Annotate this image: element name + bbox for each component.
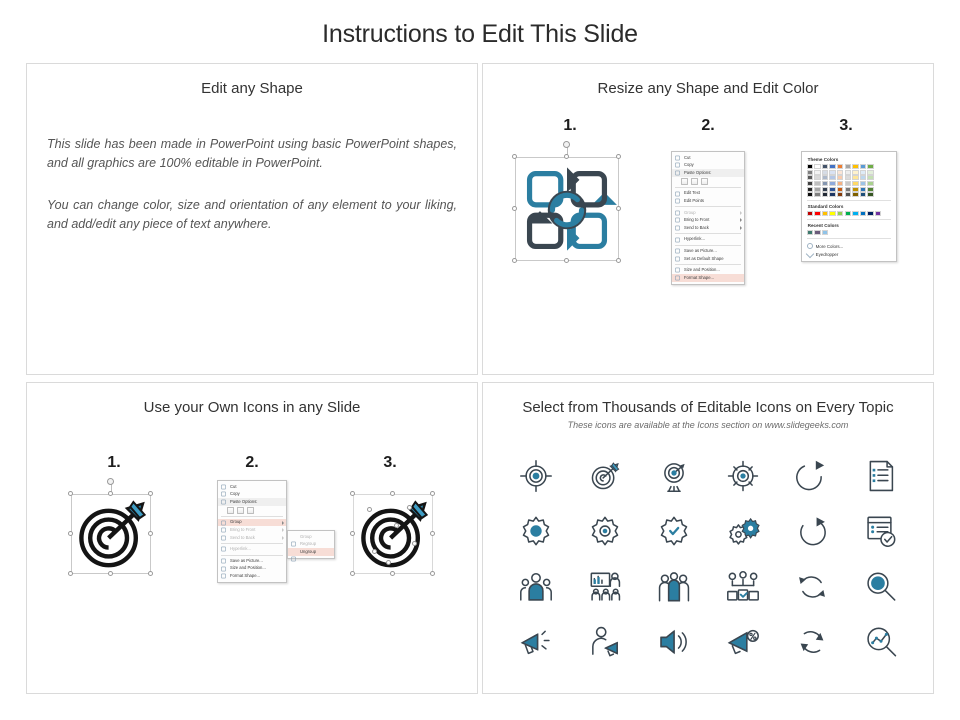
rotation-handle-icon[interactable] <box>563 141 570 148</box>
send-back-icon <box>220 535 227 541</box>
own-step-number-3: 3. <box>330 454 450 472</box>
checklist-document-icon <box>862 457 900 495</box>
group-icon <box>674 210 681 216</box>
standard-swatch-0[interactable] <box>807 211 813 216</box>
bring-front-icon <box>220 527 227 533</box>
menu-item-label: Bring to Front <box>230 528 255 532</box>
more-colors-item[interactable]: More Colors... <box>807 242 891 250</box>
recent-colors-label: Recent Colors <box>808 223 891 228</box>
menu-item-label: Cut <box>230 485 237 489</box>
submenu-arrow-icon <box>282 521 284 525</box>
icon-cell[interactable] <box>846 448 915 504</box>
menu-item-set-as-default-shape[interactable]: Set as Default Shape <box>672 255 744 263</box>
color-picker-panel[interactable]: Theme ColorsStandard ColorsRecent Colors… <box>801 151 897 262</box>
menu-item-bring-to-front[interactable]: Bring to Front <box>672 217 744 225</box>
menu-item-label: Format Shape... <box>230 574 260 578</box>
theme-shade-1-6[interactable] <box>852 175 858 180</box>
theme-shade-0-5[interactable] <box>845 170 851 175</box>
menu-item-label: Group <box>684 211 696 215</box>
menu-item-format-shape[interactable]: Format Shape... <box>672 274 744 282</box>
standard-colors-swatches[interactable] <box>807 211 891 216</box>
menu-item-label: Paste Options: <box>230 500 257 504</box>
ungrouped-handle-2[interactable] <box>390 491 395 496</box>
selection-frame <box>515 157 619 261</box>
theme-shade-3-1[interactable] <box>814 187 820 192</box>
theme-shade-3-4[interactable] <box>837 187 843 192</box>
grouped-handle-se[interactable] <box>148 571 153 576</box>
figure-ungrouped-dartboard <box>327 476 459 574</box>
slide-canvas: Instructions to Edit This Slide Edit any… <box>0 0 960 720</box>
recent-swatch-1[interactable] <box>814 230 820 235</box>
menu-item-cut[interactable]: Cut <box>218 483 286 491</box>
paste-icon <box>674 170 681 176</box>
copy-icon <box>674 162 681 168</box>
own-icons-steps-numbers: 1. 2. 3. <box>27 454 477 472</box>
theme-shade-2-3[interactable] <box>829 181 835 186</box>
menu-item-label: Save as Picture... <box>684 249 717 253</box>
presentation-audience-icon <box>586 568 624 606</box>
theme-shade-2-4[interactable] <box>837 181 843 186</box>
theme-shade-4-1[interactable] <box>814 192 820 197</box>
save-picture-icon <box>220 558 227 564</box>
menu-item-label: Bring to Front <box>684 218 709 222</box>
paste-keep-formatting-icon[interactable] <box>227 507 234 515</box>
ungrouped-handle-7[interactable] <box>390 571 395 576</box>
format-shape-icon <box>674 275 681 281</box>
edit-text-icon <box>674 191 681 197</box>
menu-item-cut[interactable]: Cut <box>672 154 744 162</box>
megaphone-icon <box>517 623 555 661</box>
theme-shade-2-5[interactable] <box>845 181 851 186</box>
panel-edit-any-shape: Edit any Shape This slide has been made … <box>26 63 478 375</box>
menu-item-label: Set as Default Shape <box>684 257 724 261</box>
default-shape-icon <box>674 256 681 262</box>
menu-item-group: Group <box>288 533 334 541</box>
theme-shade-3-0[interactable] <box>807 187 813 192</box>
refresh-clockwise-icon <box>793 457 831 495</box>
menu-item-bring-to-front: Bring to Front <box>218 526 286 534</box>
theme-shade-2-1[interactable] <box>814 181 820 186</box>
save-picture-icon <box>674 248 681 254</box>
icon-cell[interactable] <box>777 504 846 560</box>
theme-shade-0-6[interactable] <box>852 170 858 175</box>
icon-cell[interactable] <box>708 448 777 504</box>
ungrouped-handle-1[interactable] <box>350 491 355 496</box>
theme-shade-1-3[interactable] <box>829 175 835 180</box>
theme-shade-2-6[interactable] <box>852 181 858 186</box>
menu-item-label: Hyperlink... <box>230 547 251 551</box>
panel-resize-shape: Resize any Shape and Edit Color 1. 2. 3. <box>482 63 934 375</box>
gear-outline-icon <box>586 512 624 550</box>
group-icon <box>290 534 297 540</box>
theme-shade-2-2[interactable] <box>822 181 828 186</box>
standard-swatch-2[interactable] <box>822 211 828 216</box>
panel-title-own-icons: Use your Own Icons in any Slide <box>27 383 477 416</box>
menu-item-send-to-back: Send to Back <box>218 534 286 542</box>
theme-shade-3-8[interactable] <box>867 187 873 192</box>
paste-icon <box>220 499 227 505</box>
menu-item-label: Send to Back <box>230 536 255 540</box>
send-back-icon <box>674 225 681 231</box>
theme-swatch-2[interactable] <box>822 164 828 169</box>
shape-context-menu[interactable]: CutCopyPaste Options:Edit TextEdit Point… <box>671 151 745 285</box>
menu-item-label: Ungroup <box>300 550 316 554</box>
step-number-2: 2. <box>648 117 768 135</box>
menu-item-label: Copy <box>684 163 694 167</box>
standard-swatch-7[interactable] <box>860 211 866 216</box>
standard-colors-label: Standard Colors <box>808 204 891 209</box>
paste-picture-icon[interactable] <box>237 507 244 515</box>
recent-swatch-2[interactable] <box>822 230 828 235</box>
double-gear-icon <box>724 512 762 550</box>
step-number-1: 1. <box>510 117 630 135</box>
icon-cell[interactable] <box>777 448 846 504</box>
standard-swatch-6[interactable] <box>852 211 858 216</box>
ungrouped-handle-6[interactable] <box>350 571 355 576</box>
resize-handle-s[interactable] <box>564 258 569 263</box>
icon-cell[interactable] <box>570 559 639 615</box>
menu-separator <box>221 555 283 556</box>
theme-swatch-8[interactable] <box>867 164 873 169</box>
menu-item-size-and-position[interactable]: Size and Position... <box>218 565 286 573</box>
icon-cell[interactable] <box>570 504 639 560</box>
theme-shade-1-5[interactable] <box>845 175 851 180</box>
icon-cell[interactable] <box>639 559 708 615</box>
grouped-handle-ne[interactable] <box>148 491 153 496</box>
resize-handle-se[interactable] <box>616 258 621 263</box>
standard-swatch-4[interactable] <box>837 211 843 216</box>
theme-swatch-3[interactable] <box>829 164 835 169</box>
refresh-circle-icon <box>793 512 831 550</box>
dartboard-selection-box[interactable] <box>71 494 151 574</box>
theme-shade-4-8[interactable] <box>867 192 873 197</box>
theme-shade-2-8[interactable] <box>867 181 873 186</box>
theme-swatch-5[interactable] <box>845 164 851 169</box>
grouped-handle-e[interactable] <box>148 531 153 536</box>
icon-cell[interactable] <box>777 559 846 615</box>
theme-shade-1-2[interactable] <box>822 175 828 180</box>
dartboard-arrow-icon <box>586 457 624 495</box>
resize-handle-e[interactable] <box>616 206 621 211</box>
grouped-handle-s[interactable] <box>108 571 113 576</box>
icon-cell[interactable] <box>846 559 915 615</box>
recent-colors-swatches[interactable] <box>807 230 891 235</box>
menu-item-label: Size and Position... <box>684 268 720 272</box>
picker-separator-2 <box>807 219 891 220</box>
editable-icons-subtitle: These icons are available at the Icons s… <box>483 416 933 430</box>
panel-editable-icons: Select from Thousands of Editable Icons … <box>482 382 934 694</box>
menu-item-label: Edit Text <box>684 191 700 195</box>
menu-item-label: Save as Picture... <box>230 559 263 563</box>
resize-steps-figures: CutCopyPaste Options:Edit TextEdit Point… <box>483 143 933 285</box>
theme-shade-3-5[interactable] <box>845 187 851 192</box>
theme-shade-0-2[interactable] <box>822 170 828 175</box>
menu-item-label: Regroup <box>300 542 316 546</box>
theme-shade-0-3[interactable] <box>829 170 835 175</box>
submenu-arrow-icon <box>282 536 284 540</box>
size-position-icon <box>220 566 227 572</box>
menu-separator <box>675 206 741 207</box>
icon-cell[interactable] <box>501 615 570 671</box>
theme-shade-4-7[interactable] <box>860 192 866 197</box>
grouped-handle-sw[interactable] <box>68 571 73 576</box>
size-position-icon <box>674 267 681 273</box>
theme-shade-0-0[interactable] <box>807 170 813 175</box>
hyperlink-icon <box>674 237 681 243</box>
crosshair-target-icon <box>517 457 555 495</box>
icon-cell[interactable] <box>708 559 777 615</box>
paste-text-only-icon[interactable] <box>247 507 254 515</box>
page-title: Instructions to Edit This Slide <box>0 0 960 49</box>
paste-options-row[interactable] <box>218 506 286 515</box>
ungrouped-handle-3[interactable] <box>430 491 435 496</box>
resize-steps-numbers: 1. 2. 3. <box>483 117 933 135</box>
standard-swatch-1[interactable] <box>814 211 820 216</box>
own-icons-steps-figures: CutCopyPaste Options:GroupBring to Front… <box>27 476 477 583</box>
magnifier-chart-icon <box>862 623 900 661</box>
theme-shade-0-1[interactable] <box>814 170 820 175</box>
menu-item-size-and-position[interactable]: Size and Position... <box>672 267 744 275</box>
theme-shade-0-8[interactable] <box>867 170 873 175</box>
theme-shade-3-6[interactable] <box>852 187 858 192</box>
theme-shade-1-8[interactable] <box>867 175 873 180</box>
ungrouped-handle-8[interactable] <box>430 571 435 576</box>
menu-item-save-as-picture[interactable]: Save as Picture... <box>672 247 744 255</box>
crosshair-scope-icon <box>724 457 762 495</box>
figure-selected-shape <box>501 143 633 261</box>
standard-swatch-9[interactable] <box>875 211 881 216</box>
submenu-arrow-icon <box>740 218 742 222</box>
theme-colors-swatches[interactable] <box>807 164 891 197</box>
menu-item-send-to-back[interactable]: Send to Back <box>672 224 744 232</box>
gear-filled-icon <box>517 512 555 550</box>
group-menu-wrapper: CutCopyPaste Options:GroupBring to Front… <box>217 480 287 583</box>
icon-gallery-grid <box>483 434 933 680</box>
edit-shape-paragraph-2: You can change color, size and orientati… <box>47 196 457 234</box>
org-chart-people-icon <box>724 568 762 606</box>
icon-cell[interactable] <box>570 448 639 504</box>
ungrouped-handle-4[interactable] <box>350 531 355 536</box>
submenu-arrow-icon <box>740 226 742 230</box>
paste-text-only-icon[interactable] <box>701 178 708 186</box>
figure-context-menu: CutCopyPaste Options:Edit TextEdit Point… <box>642 143 774 285</box>
target-stand-icon <box>655 457 693 495</box>
eyedropper-icon <box>805 250 813 258</box>
edit-shape-text-block: This slide has been made in PowerPoint u… <box>27 97 477 234</box>
theme-colors-label: Theme Colors <box>808 157 891 162</box>
theme-shade-4-6[interactable] <box>852 192 858 197</box>
theme-shade-4-0[interactable] <box>807 192 813 197</box>
standard-swatch-5[interactable] <box>845 211 851 216</box>
theme-swatch-0[interactable] <box>807 164 813 169</box>
theme-shade-1-7[interactable] <box>860 175 866 180</box>
standard-swatch-8[interactable] <box>867 211 873 216</box>
icon-cell[interactable] <box>846 615 915 671</box>
menu-item-regroup: Regroup <box>288 541 334 549</box>
person-megaphone-icon <box>586 623 624 661</box>
menu-item-label: Hyperlink... <box>684 237 705 241</box>
theme-shade-4-5[interactable] <box>845 192 851 197</box>
icon-cell[interactable] <box>708 615 777 671</box>
theme-swatch-6[interactable] <box>852 164 858 169</box>
icon-cell[interactable] <box>777 615 846 671</box>
theme-shade-2-0[interactable] <box>807 181 813 186</box>
step-number-3: 3. <box>786 117 906 135</box>
picker-separator-3 <box>807 238 891 239</box>
cycle-refresh-icon <box>793 623 831 661</box>
icon-cell[interactable] <box>639 615 708 671</box>
menu-item-format-shape[interactable]: Format Shape... <box>218 572 286 580</box>
icon-cell[interactable] <box>708 504 777 560</box>
theme-shade-1-4[interactable] <box>837 175 843 180</box>
theme-shade-0-7[interactable] <box>860 170 866 175</box>
group-icon <box>220 520 227 526</box>
own-step-number-1: 1. <box>54 454 174 472</box>
icon-cell[interactable] <box>501 559 570 615</box>
theme-shade-1-1[interactable] <box>814 175 820 180</box>
icon-cell[interactable] <box>846 504 915 560</box>
scissors-icon <box>220 484 227 490</box>
menu-item-save-as-picture[interactable]: Save as Picture... <box>218 557 286 565</box>
theme-shade-4-3[interactable] <box>829 192 835 197</box>
group-submenu[interactable]: GroupRegroupUngroup <box>287 530 335 559</box>
magnifier-icon <box>862 568 900 606</box>
ungrouped-handle-12[interactable] <box>372 549 377 554</box>
icon-cell[interactable] <box>639 504 708 560</box>
eyedropper-item[interactable]: Eyedropper <box>807 250 891 258</box>
menu-separator <box>675 245 741 246</box>
ungrouped-handle-13[interactable] <box>412 541 417 546</box>
theme-shade-3-2[interactable] <box>822 187 828 192</box>
menu-item-group: Group <box>672 209 744 217</box>
panel-title-editable-icons: Select from Thousands of Editable Icons … <box>483 383 933 416</box>
icon-cell[interactable] <box>639 448 708 504</box>
recent-swatch-0[interactable] <box>807 230 813 235</box>
menu-item-label: Copy <box>230 492 240 496</box>
theme-shade-0-4[interactable] <box>837 170 843 175</box>
submenu-arrow-icon <box>282 528 284 532</box>
paste-keep-formatting-icon[interactable] <box>681 178 688 186</box>
resize-handle-sw[interactable] <box>512 258 517 263</box>
figure-group-context-menu: CutCopyPaste Options:GroupBring to Front… <box>186 476 318 583</box>
edit-points-icon <box>674 198 681 204</box>
selection-frame-ungrouped <box>353 494 433 574</box>
menu-item-label: Format Shape... <box>684 276 714 280</box>
theme-shade-2-7[interactable] <box>860 181 866 186</box>
megaphone-percent-icon <box>724 623 762 661</box>
menu-item-label: Send to Back <box>684 226 709 230</box>
menu-item-label: Size and Position... <box>230 566 266 570</box>
menu-separator <box>675 233 741 234</box>
ungrouped-selection-box[interactable] <box>353 494 433 574</box>
menu-item-label: Group <box>230 520 242 524</box>
menu-item-hyperlink: Hyperlink... <box>218 546 286 554</box>
eyedropper-label: Eyedropper <box>816 252 839 257</box>
menu-separator <box>675 187 741 188</box>
own-step-number-2: 2. <box>192 454 312 472</box>
standard-swatch-3[interactable] <box>829 211 835 216</box>
menu-item-paste-options[interactable]: Paste Options: <box>672 169 744 177</box>
figure-grouped-dartboard <box>45 476 177 574</box>
bring-front-icon <box>674 217 681 223</box>
picker-separator-1 <box>807 200 891 201</box>
regroup-icon <box>290 541 297 547</box>
menu-item-group[interactable]: Group <box>218 519 286 527</box>
menu-separator <box>675 264 741 265</box>
document-check-icon <box>862 512 900 550</box>
icon-context-menu[interactable]: CutCopyPaste Options:GroupBring to Front… <box>217 480 287 583</box>
cycle-arrows-icon <box>793 568 831 606</box>
rotation-handle-grouped-icon[interactable] <box>107 478 114 485</box>
ungroup-icon <box>290 549 297 555</box>
menu-item-edit-text[interactable]: Edit Text <box>672 190 744 198</box>
menu-item-label: Edit Points <box>684 199 704 203</box>
menu-item-ungroup[interactable]: Ungroup <box>288 548 334 556</box>
speaker-sound-icon <box>655 623 693 661</box>
menu-item-label: Group <box>300 535 312 539</box>
edit-shape-paragraph-1: This slide has been made in PowerPoint u… <box>47 135 457 173</box>
scissors-icon <box>674 155 681 161</box>
icon-cell[interactable] <box>501 504 570 560</box>
menu-item-label: Paste Options: <box>684 171 711 175</box>
people-group-icon <box>655 568 693 606</box>
theme-swatch-4[interactable] <box>837 164 843 169</box>
menu-item-copy[interactable]: Copy <box>218 491 286 499</box>
menu-separator <box>221 516 283 517</box>
ungrouped-handle-5[interactable] <box>430 531 435 536</box>
menu-item-paste-options[interactable]: Paste Options: <box>218 498 286 506</box>
gear-check-icon <box>655 512 693 550</box>
hyperlink-icon <box>220 546 227 552</box>
resize-handle-ne[interactable] <box>616 154 621 159</box>
theme-swatch-7[interactable] <box>860 164 866 169</box>
menu-item-edit-points[interactable]: Edit Points <box>672 197 744 205</box>
theme-shade-3-3[interactable] <box>829 187 835 192</box>
paste-options-row[interactable] <box>672 177 744 186</box>
theme-shade-3-7[interactable] <box>860 187 866 192</box>
panel-own-icons: Use your Own Icons in any Slide 1. 2. 3. <box>26 382 478 694</box>
menu-item-hyperlink[interactable]: Hyperlink... <box>672 236 744 244</box>
selection-frame-grouped <box>71 494 151 574</box>
panel-title-edit-shape: Edit any Shape <box>27 64 477 97</box>
theme-shade-1-0[interactable] <box>807 175 813 180</box>
copy-icon <box>220 491 227 497</box>
menu-separator <box>221 543 283 544</box>
team-group-icon <box>517 568 555 606</box>
menu-item-label: Cut <box>684 156 691 160</box>
figure-color-picker: Theme ColorsStandard ColorsRecent Colors… <box>783 143 915 262</box>
menu-item-copy[interactable]: Copy <box>672 162 744 170</box>
panel-title-resize-shape: Resize any Shape and Edit Color <box>483 64 933 97</box>
paste-picture-icon[interactable] <box>691 178 698 186</box>
more-colors-label: More Colors... <box>816 244 844 249</box>
shape-selection-box[interactable] <box>515 157 619 261</box>
panels-grid: Edit any Shape This slide has been made … <box>26 63 934 694</box>
theme-shade-4-2[interactable] <box>822 192 828 197</box>
theme-swatch-1[interactable] <box>814 164 820 169</box>
icon-cell[interactable] <box>501 448 570 504</box>
submenu-arrow-icon <box>740 211 742 215</box>
theme-shade-4-4[interactable] <box>837 192 843 197</box>
format-shape-icon <box>220 573 227 579</box>
icon-cell[interactable] <box>570 615 639 671</box>
